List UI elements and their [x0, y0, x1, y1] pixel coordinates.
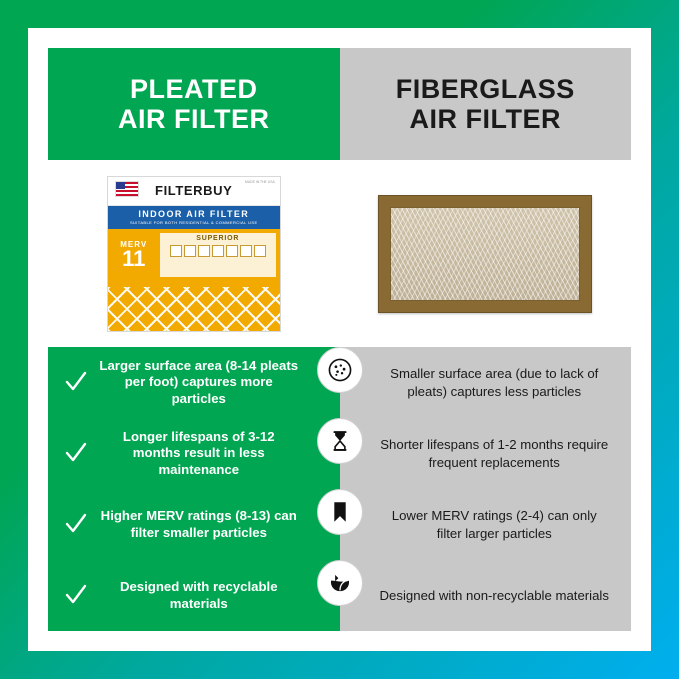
- spec-icon-5: [226, 245, 238, 257]
- spec-icon-6: [240, 245, 252, 257]
- benefit-right-text-4: Designed with non-recyclable materials: [380, 587, 609, 604]
- benefit-left-2: Longer lifespans of 3-12 months result i…: [48, 418, 340, 489]
- fiberglass-media: [390, 207, 580, 301]
- header-left-text: PLEATED AIR FILTER: [118, 74, 269, 134]
- header-right-line2: AIR FILTER: [410, 104, 561, 134]
- pleated-spec-icons: [162, 245, 274, 257]
- spec-icon-1: [170, 245, 182, 257]
- benefit-row-1: Larger surface area (8-14 pleats per foo…: [48, 347, 631, 418]
- header-right-fiberglass: FIBERGLASS AIR FILTER: [340, 48, 632, 160]
- benefit-rows: Larger surface area (8-14 pleats per foo…: [48, 347, 631, 631]
- benefit-right-text-1: Smaller surface area (due to lack of ple…: [380, 365, 610, 399]
- poster-white-sheet: PLEATED AIR FILTER FIBERGLASS AIR FILTER: [28, 28, 651, 651]
- benefit-left-1: Larger surface area (8-14 pleats per foo…: [48, 347, 340, 418]
- spec-icon-7: [254, 245, 266, 257]
- pleat-diamond-pattern: [108, 287, 280, 331]
- pleated-band-subtitle: SUITABLE FOR BOTH RESIDENTIAL & COMMERCI…: [108, 220, 280, 225]
- header-left-pleated: PLEATED AIR FILTER: [48, 48, 340, 160]
- benefit-left-3: Higher MERV ratings (8-13) can filter sm…: [48, 489, 340, 560]
- benefit-right-text-2: Shorter lifespans of 1-2 months require …: [380, 436, 610, 470]
- merv-value: 11: [122, 249, 145, 270]
- product-image-row: FILTERBUY MADE IN THE USA INDOOR AIR FIL…: [48, 160, 631, 347]
- pleated-grade-label: SUPERIOR: [162, 235, 274, 242]
- header-left-line2: AIR FILTER: [118, 104, 269, 134]
- pleated-filter-illustration: FILTERBUY MADE IN THE USA INDOOR AIR FIL…: [107, 176, 281, 332]
- pleated-blue-band: INDOOR AIR FILTER SUITABLE FOR BOTH RESI…: [108, 206, 280, 229]
- fiberglass-filter-illustration: [378, 195, 592, 313]
- particles-icon: [317, 347, 363, 393]
- check-icon: [64, 370, 88, 396]
- pleated-brand-label: FILTERBUY: [108, 183, 280, 198]
- benefit-left-4: Designed with recyclable materials: [48, 560, 340, 631]
- benefit-right-2: Shorter lifespans of 1-2 months require …: [340, 418, 632, 489]
- recycle-leaf-icon: [317, 560, 363, 606]
- header-left-line1: PLEATED: [130, 74, 258, 104]
- check-icon: [64, 583, 88, 609]
- benefit-right-1: Smaller surface area (due to lack of ple…: [340, 347, 632, 418]
- benefit-row-4: Designed with recyclable materials Desig…: [48, 560, 631, 631]
- pleated-spec-box: SUPERIOR: [160, 233, 276, 277]
- benefit-row-2: Longer lifespans of 3-12 months result i…: [48, 418, 631, 489]
- pleated-band-title: INDOOR AIR FILTER: [108, 209, 280, 219]
- hourglass-icon: [317, 418, 363, 464]
- comparison-panel: PLEATED AIR FILTER FIBERGLASS AIR FILTER: [48, 48, 631, 631]
- bookmark-icon: [317, 489, 363, 535]
- header-row: PLEATED AIR FILTER FIBERGLASS AIR FILTER: [48, 48, 631, 160]
- pleated-fine-print: MADE IN THE USA: [245, 180, 275, 184]
- merv-badge: MERV 11: [108, 229, 160, 281]
- benefit-right-text-3: Lower MERV ratings (2-4) can only filter…: [380, 507, 610, 541]
- pleated-merv-strip: MERV 11 SUPERIOR: [108, 229, 280, 281]
- header-right-line1: FIBERGLASS: [396, 74, 575, 104]
- header-right-text: FIBERGLASS AIR FILTER: [396, 74, 575, 134]
- spec-icon-2: [184, 245, 196, 257]
- benefit-right-4: Designed with non-recyclable materials: [340, 560, 632, 631]
- benefit-left-text-1: Larger surface area (8-14 pleats per foo…: [98, 358, 326, 408]
- pleated-header-strip: FILTERBUY MADE IN THE USA: [108, 177, 280, 206]
- fiberglass-image-cell: [340, 160, 632, 347]
- pleated-image-cell: FILTERBUY MADE IN THE USA INDOOR AIR FIL…: [48, 160, 340, 347]
- benefit-right-3: Lower MERV ratings (2-4) can only filter…: [340, 489, 632, 560]
- spec-icon-3: [198, 245, 210, 257]
- pleated-media-area: FILTERBUY: [108, 281, 280, 332]
- benefit-left-text-4: Designed with recyclable materials: [98, 579, 326, 612]
- check-icon: [64, 441, 88, 467]
- spec-icon-4: [212, 245, 224, 257]
- benefit-left-text-3: Higher MERV ratings (8-13) can filter sm…: [98, 508, 326, 541]
- benefit-left-text-2: Longer lifespans of 3-12 months result i…: [98, 429, 326, 479]
- check-icon: [64, 512, 88, 538]
- benefit-row-3: Higher MERV ratings (8-13) can filter sm…: [48, 489, 631, 560]
- poster-gradient-border: PLEATED AIR FILTER FIBERGLASS AIR FILTER: [0, 0, 679, 679]
